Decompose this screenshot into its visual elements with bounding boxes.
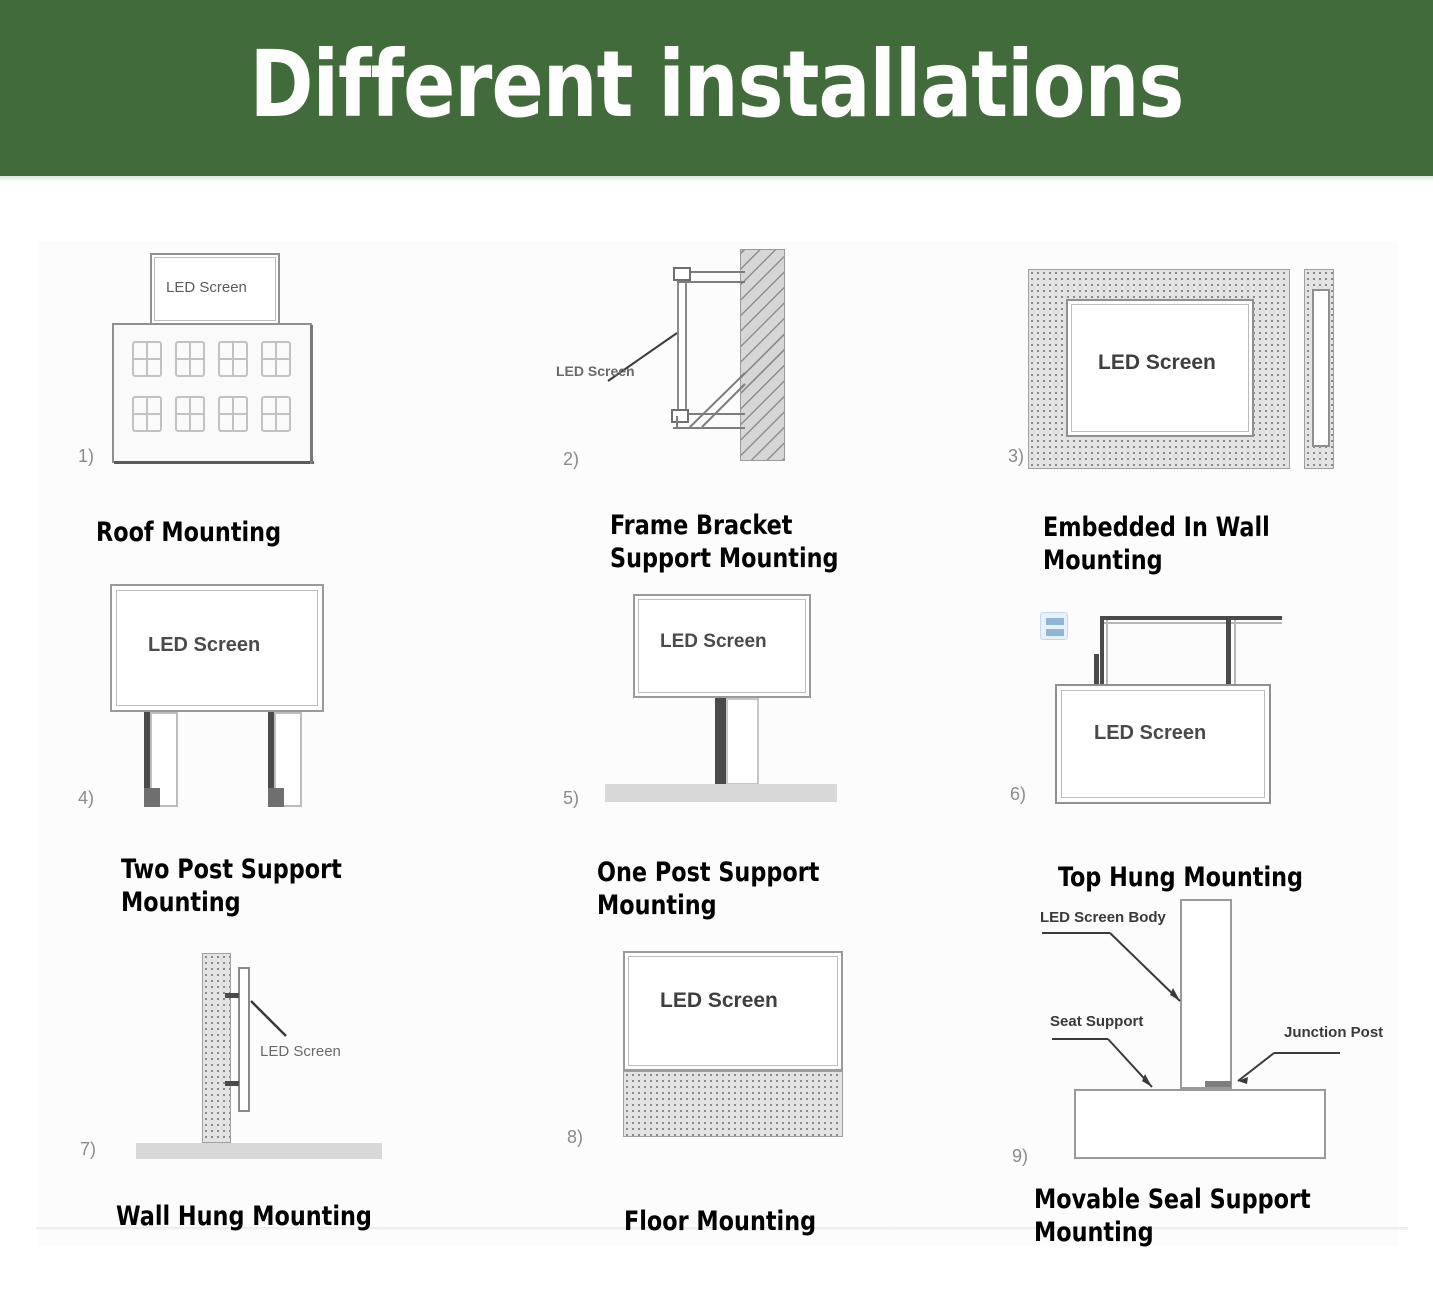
figure-roof-mounting: LED Screen 1) (70, 241, 490, 541)
figure-number: 3) (1008, 446, 1024, 467)
annotation-led-screen-body: LED Screen Body (1040, 909, 1166, 926)
window-icon (261, 396, 291, 432)
window-icon (218, 341, 248, 377)
window-icon (218, 396, 248, 432)
figure-caption-wall-hung: Wall Hung Mounting (116, 1200, 447, 1233)
figure-top-hung-mounting: LED Screen 6) (1000, 596, 1420, 906)
figure-number: 9) (1012, 1146, 1028, 1167)
annotation-seat-support: Seat Support (1050, 1013, 1143, 1030)
figure-number: 5) (563, 788, 579, 809)
figure-caption-frame-bracket: Frame Bracket Support Mounting (610, 509, 923, 575)
screen-label: LED Screen (148, 634, 260, 657)
figure-wall-hung-mounting: LED Screen 7) (70, 931, 490, 1221)
header-banner: Different installations (0, 0, 1433, 176)
screen-label: LED Screen (1098, 351, 1216, 375)
screen-label: LED Screen (556, 363, 635, 379)
screen-label: LED Screen (166, 279, 247, 296)
wall-hatch (740, 249, 785, 461)
figure-embedded-in-wall-mounting: LED Screen 3) (1000, 241, 1420, 541)
figure-number: 8) (567, 1127, 583, 1148)
window-icon (175, 396, 205, 432)
figure-number: 2) (563, 449, 579, 470)
screen-label: LED Screen (660, 631, 767, 653)
figure-floor-mounting: LED Screen 8) (555, 941, 975, 1231)
figure-caption-roof-mounting: Roof Mounting (96, 516, 400, 549)
figure-caption-movable-seal-support: Movable Seal Support Mounting (1034, 1183, 1384, 1249)
figure-caption-top-hung: Top Hung Mounting (1058, 861, 1371, 894)
window-icon (132, 396, 162, 432)
wall-hatch (202, 953, 231, 1143)
figure-number: 1) (78, 446, 94, 467)
figure-caption-embedded-in-wall: Embedded In Wall Mounting (1043, 511, 1374, 577)
leader-line (70, 931, 490, 1221)
figures-panel: LED Screen 1) Roof Mounting (0, 181, 1433, 1300)
figure-caption-two-post-support: Two Post Support Mounting (121, 853, 434, 919)
window-icon (261, 341, 291, 377)
figure-caption-floor-mounting: Floor Mounting (624, 1205, 937, 1238)
figure-caption-one-post-support: One Post Support Mounting (597, 856, 910, 922)
window-icon (132, 341, 162, 377)
figure-number: 7) (80, 1139, 96, 1160)
figure-movable-seal-support-mounting: LED Screen Body Seat Support Junction Po… (1000, 891, 1430, 1221)
image-placeholder-icon (1040, 612, 1068, 640)
screen-label: LED Screen (660, 989, 778, 1013)
window-icon (175, 341, 205, 377)
screen-label: LED Screen (1094, 722, 1206, 745)
annotation-junction-post: Junction Post (1284, 1024, 1383, 1041)
floor-base-hatch (623, 1071, 843, 1137)
figure-number: 6) (1010, 784, 1026, 805)
figure-number: 4) (78, 788, 94, 809)
screen-label: LED Screen (260, 1043, 341, 1060)
figure-frame-bracket-support-mounting: LED Screen 2) (555, 241, 975, 541)
page-title: Different installations (50, 34, 1383, 135)
